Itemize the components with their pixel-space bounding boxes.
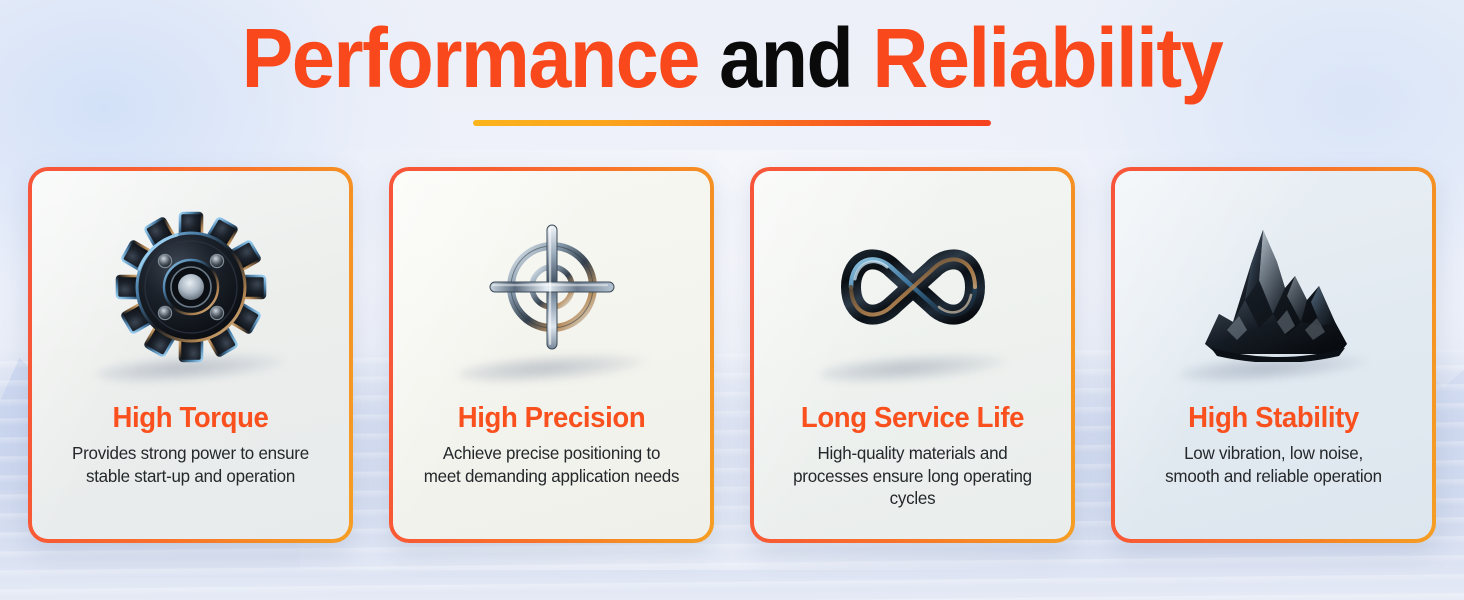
card-description-line-2: processes ensure long operating cycles [772, 465, 1052, 511]
card-description: High-quality materials and processes ens… [772, 442, 1052, 510]
page-title-part-2: and [719, 11, 852, 105]
icon-drop-shadow [817, 348, 1008, 387]
card-inner: High Stability Low vibration, low noise,… [1115, 171, 1432, 539]
card-text: High Stability Low vibration, low noise,… [1115, 403, 1432, 487]
card-description-line-1: Low vibration, low noise, [1133, 442, 1413, 465]
title-underline-rule [473, 120, 991, 126]
mountain-rock-icon [1181, 212, 1367, 362]
icon-stage [32, 171, 349, 403]
card-title: High Stability [1136, 403, 1411, 435]
feature-card-high-stability[interactable]: High Stability Low vibration, low noise,… [1111, 167, 1436, 543]
card-inner: High Precision Achieve precise positioni… [393, 171, 710, 539]
icon-stage [754, 171, 1071, 403]
card-description-line-2: meet demanding application needs [411, 465, 691, 488]
card-text: High Precision Achieve precise positioni… [393, 403, 710, 487]
banner-stage: Performance and Reliability [0, 0, 1464, 600]
feature-card-high-precision[interactable]: High Precision Achieve precise positioni… [389, 167, 714, 543]
card-description-line-2: smooth and reliable operation [1133, 465, 1413, 488]
card-title: Long Service Life [775, 403, 1050, 435]
header: Performance and Reliability [0, 16, 1464, 126]
card-text: Long Service Life High-quality materials… [754, 403, 1071, 510]
crosshair-target-icon [476, 211, 628, 363]
card-inner: High Torque Provides strong power to ens… [32, 171, 349, 539]
gear-icon [115, 211, 267, 363]
page-title: Performance and Reliability [59, 16, 1406, 100]
card-description: Achieve precise positioning to meet dema… [411, 442, 691, 488]
page-title-part-1: Performance [242, 11, 719, 105]
feature-card-long-service-life[interactable]: Long Service Life High-quality materials… [750, 167, 1075, 543]
icon-stage [1115, 171, 1432, 403]
card-inner: Long Service Life High-quality materials… [754, 171, 1071, 539]
card-description-line-2: stable start-up and operation [50, 465, 330, 488]
feature-card-high-torque[interactable]: High Torque Provides strong power to ens… [28, 167, 353, 543]
card-description-line-1: High-quality materials and [772, 442, 1052, 465]
card-description-line-1: Provides strong power to ensure [50, 442, 330, 465]
card-title: High Precision [414, 403, 689, 435]
icon-stage [393, 171, 710, 403]
card-title: High Torque [53, 403, 328, 435]
card-text: High Torque Provides strong power to ens… [32, 403, 349, 487]
card-description: Low vibration, low noise, smooth and rel… [1133, 442, 1413, 488]
card-description-line-1: Achieve precise positioning to [411, 442, 691, 465]
page-title-part-3: Reliability [852, 11, 1222, 105]
card-description: Provides strong power to ensure stable s… [50, 442, 330, 488]
infinity-icon [825, 227, 1001, 347]
feature-card-list: High Torque Provides strong power to ens… [28, 167, 1436, 543]
